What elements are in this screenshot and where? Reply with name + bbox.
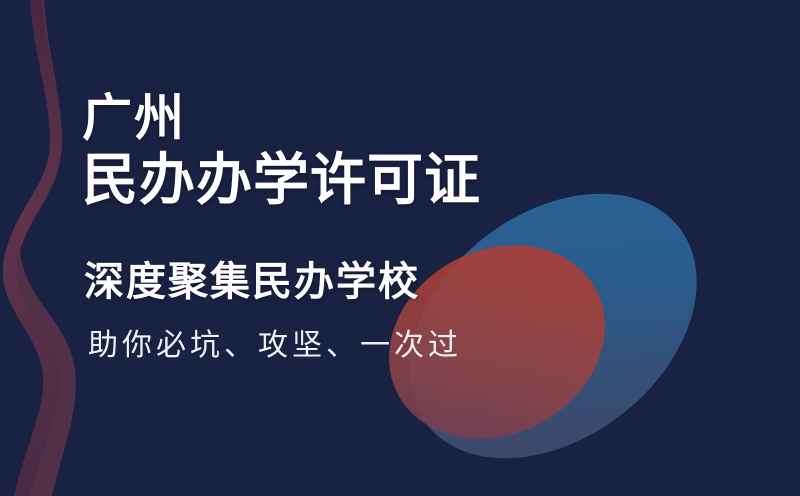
tagline-text: 助你必坑、攻坚、一次过 <box>88 326 462 366</box>
subtitle-text: 深度聚集民办学校 <box>84 258 420 306</box>
page-title: 广州 民办办学许可证 <box>82 88 481 214</box>
title-line-main: 民办办学许可证 <box>82 148 481 214</box>
title-line-city: 广州 <box>82 88 481 148</box>
promo-banner: 广州 民办办学许可证 深度聚集民办学校 助你必坑、攻坚、一次过 <box>0 0 800 496</box>
banner-content: 广州 民办办学许可证 深度聚集民办学校 助你必坑、攻坚、一次过 <box>0 0 800 496</box>
